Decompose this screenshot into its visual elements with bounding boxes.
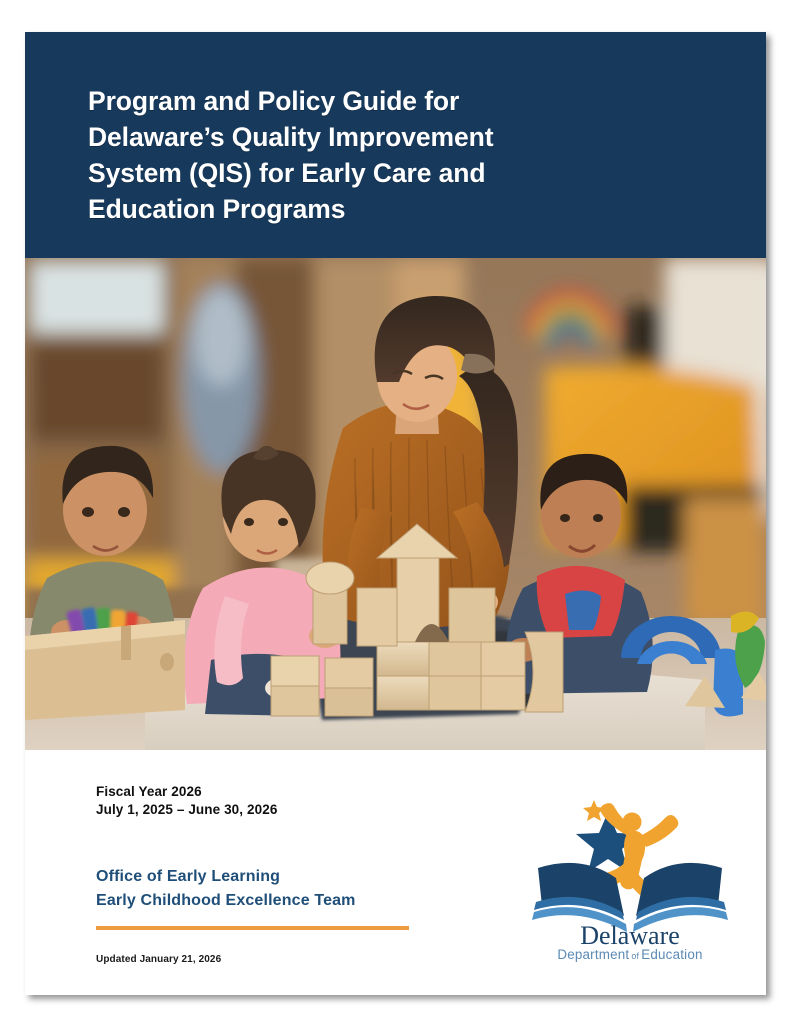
footer-area: Fiscal Year 2026 July 1, 2025 – June 30,…: [25, 750, 766, 995]
delaware-doe-logo: Delaware DepartmentofEducation: [520, 798, 740, 963]
logo-education-word: Education: [641, 947, 702, 962]
office-name-label: Office of Early Learning: [96, 868, 280, 886]
cover-photo-illustration: [25, 258, 766, 750]
logo-artwork: Delaware DepartmentofEducation: [520, 798, 740, 963]
cover-photo: [25, 258, 766, 750]
updated-date-label: Updated January 21, 2026: [96, 954, 221, 965]
logo-delaware-text: Delaware: [580, 921, 680, 950]
title-line-2: Delaware’s Quality Improvement: [88, 119, 668, 155]
fiscal-range-label: July 1, 2025 – June 30, 2026: [96, 802, 277, 817]
logo-of-word: of: [631, 951, 639, 961]
title-line-1: Program and Policy Guide for: [88, 83, 668, 119]
title-line-4: Education Programs: [88, 191, 668, 227]
logo-department-word: Department: [557, 947, 629, 962]
title-line-3: System (QIS) for Early Care and: [88, 155, 668, 191]
document-page: Program and Policy Guide for Delaware’s …: [25, 32, 766, 995]
fiscal-year-label: Fiscal Year 2026: [96, 784, 202, 799]
team-name-label: Early Childhood Excellence Team: [96, 892, 356, 910]
accent-divider: [96, 926, 409, 930]
title-band: Program and Policy Guide for Delaware’s …: [25, 32, 766, 258]
page-title: Program and Policy Guide for Delaware’s …: [88, 83, 668, 227]
